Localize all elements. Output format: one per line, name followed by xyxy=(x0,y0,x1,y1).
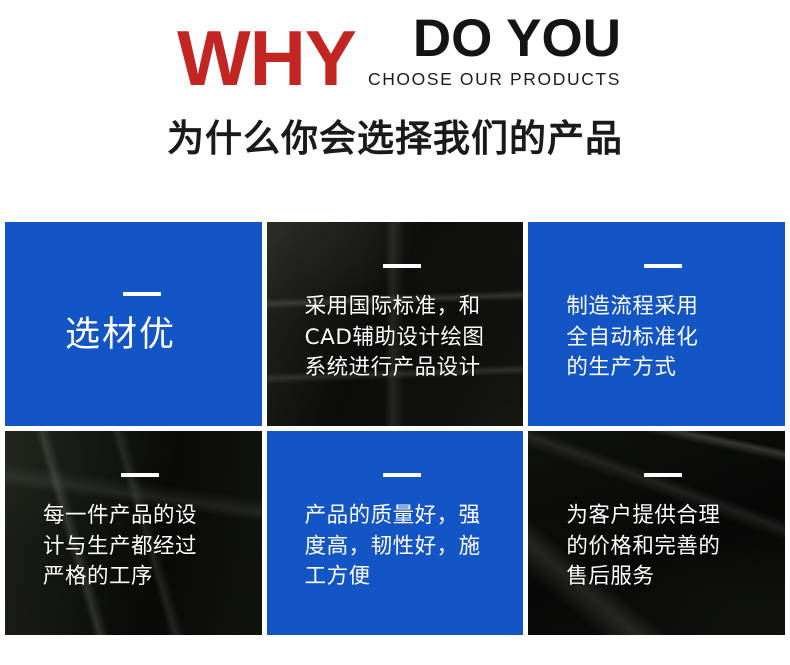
divider-dash-icon xyxy=(383,473,421,477)
feature-card-3-content: 制造流程采用 全自动标准化 的生产方式 xyxy=(566,264,785,384)
headline-right-stack: DO YOU CHOOSE OUR PRODUCTS xyxy=(368,15,621,92)
feature-card-5-text: 产品的质量好，强 度高，韧性好，施 工方便 xyxy=(305,501,524,593)
headline-choose-our-products: CHOOSE OUR PRODUCTS xyxy=(368,69,621,91)
feature-card-1-text: 选材优 xyxy=(65,314,262,356)
headline-why: WHY xyxy=(177,25,356,92)
feature-card-6-text: 为客户提供合理 的价格和完善的 售后服务 xyxy=(566,501,785,593)
feature-card-4-text: 每一件产品的设 计与生产都经过 严格的工序 xyxy=(43,501,262,593)
divider-dash-icon xyxy=(644,264,682,268)
feature-card-5[interactable]: 产品的质量好，强 度高，韧性好，施 工方便 xyxy=(267,431,524,635)
divider-dash-icon xyxy=(123,292,161,296)
divider-dash-icon xyxy=(644,473,682,477)
feature-card-4-content: 每一件产品的设 计与生产都经过 严格的工序 xyxy=(43,473,262,593)
feature-card-3[interactable]: 制造流程采用 全自动标准化 的生产方式 xyxy=(528,222,785,426)
feature-card-2[interactable]: 采用国际标准，和 CAD辅助设计绘图 系统进行产品设计 xyxy=(267,222,524,426)
feature-card-2-content: 采用国际标准，和 CAD辅助设计绘图 系统进行产品设计 xyxy=(305,264,524,384)
page-header: WHY DO YOU CHOOSE OUR PRODUCTS 为什么你会选择我们… xyxy=(0,0,790,162)
divider-dash-icon xyxy=(383,264,421,268)
feature-card-5-content: 产品的质量好，强 度高，韧性好，施 工方便 xyxy=(305,473,524,593)
feature-card-1-content: 选材优 xyxy=(65,292,262,356)
feature-card-2-text: 采用国际标准，和 CAD辅助设计绘图 系统进行产品设计 xyxy=(305,292,524,384)
feature-card-6[interactable]: 为客户提供合理 的价格和完善的 售后服务 xyxy=(528,431,785,635)
feature-card-4[interactable]: 每一件产品的设 计与生产都经过 严格的工序 xyxy=(5,431,262,635)
feature-card-3-text: 制造流程采用 全自动标准化 的生产方式 xyxy=(566,292,785,384)
feature-card-6-content: 为客户提供合理 的价格和完善的 售后服务 xyxy=(566,473,785,593)
page-subtitle-chinese: 为什么你会选择我们的产品 xyxy=(0,108,790,162)
feature-grid: 选材优 采用国际标准，和 CAD辅助设计绘图 系统进行产品设计 制造流程采用 全… xyxy=(5,222,785,635)
divider-dash-icon xyxy=(121,473,159,477)
headline-row: WHY DO YOU CHOOSE OUR PRODUCTS xyxy=(0,14,790,92)
headline-do-you: DO YOU xyxy=(413,15,621,64)
feature-card-1[interactable]: 选材优 xyxy=(5,222,262,426)
